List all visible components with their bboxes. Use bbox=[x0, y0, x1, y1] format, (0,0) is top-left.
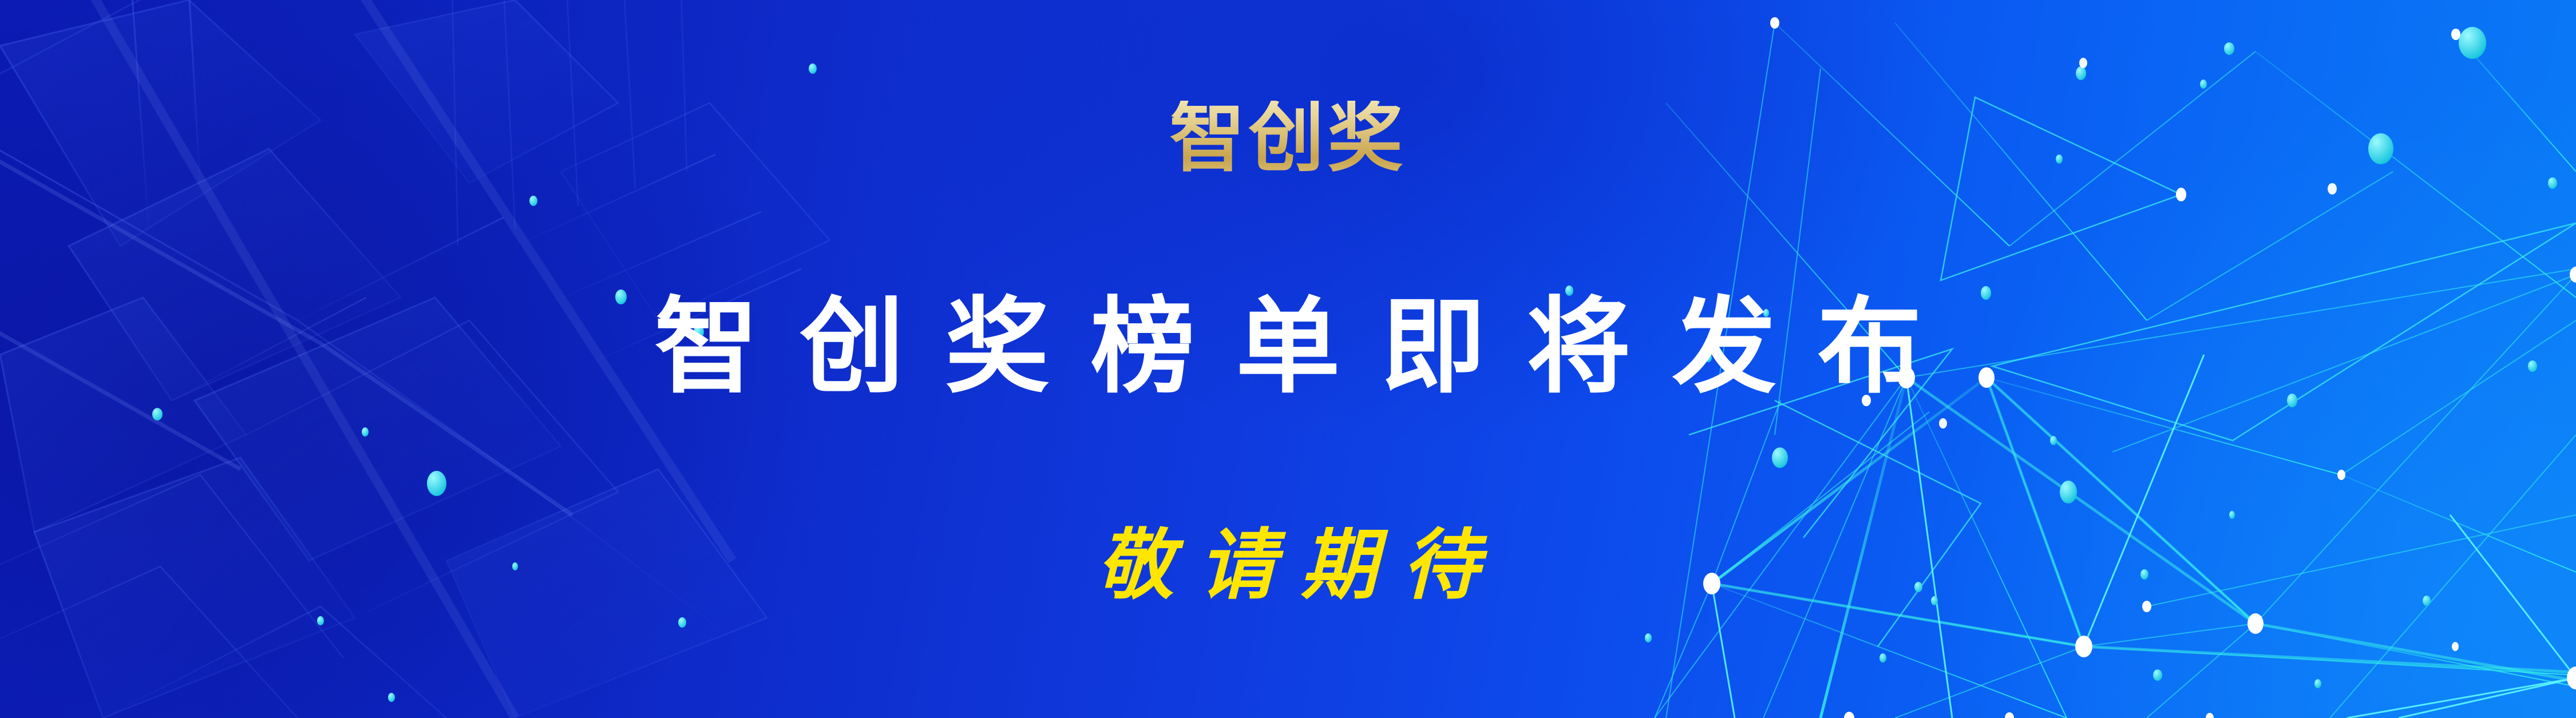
promo-banner: 智创奖 智创奖榜单即将发布 敬请期待 bbox=[0, 0, 2576, 718]
banner-content: 智创奖 智创奖榜单即将发布 敬请期待 bbox=[0, 0, 2576, 718]
headline-text: 智创奖榜单即将发布 bbox=[0, 295, 2576, 399]
subtitle-text: 敬请期待 bbox=[0, 527, 2576, 604]
brand-logo-text: 智创奖 bbox=[0, 101, 2576, 176]
